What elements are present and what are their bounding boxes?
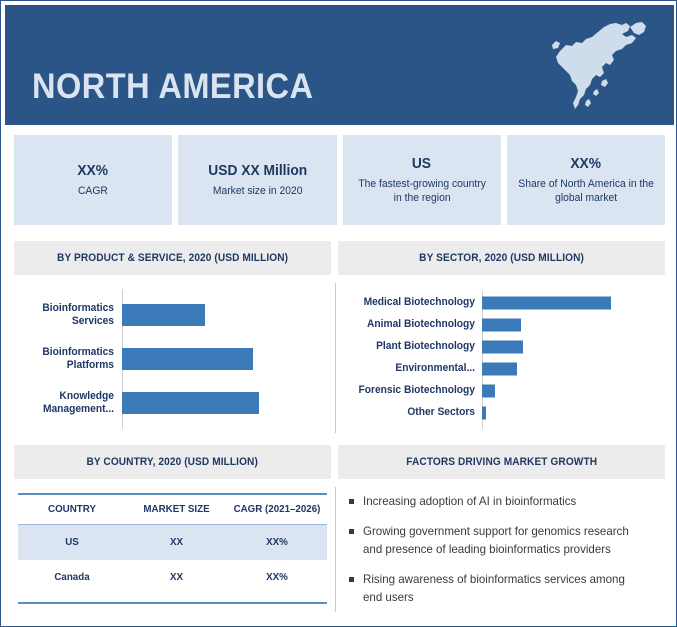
chart-bar-row: Environmental... [341, 359, 665, 379]
north-america-map-icon [542, 15, 652, 120]
section-title: BY SECTOR, 2020 (USD MILLION) [419, 252, 584, 264]
factor-text: Growing government support for genomics … [363, 523, 647, 558]
list-item: Increasing adoption of AI in bioinformat… [349, 493, 659, 510]
kpi-row: XX% CAGR USD XX Million Market size in 2… [14, 135, 665, 225]
chart-bar-row: Bioinformatics Platforms [14, 341, 331, 377]
chart-bar-track [122, 297, 331, 333]
chart-bar-row: Animal Biotechnology [341, 315, 665, 335]
cell-market-size: XX [130, 567, 224, 588]
chart-bar [482, 297, 611, 310]
table-header-row: COUNTRY MARKET SIZE CAGR (2021–2026) [18, 495, 327, 524]
section-title: BY PRODUCT & SERVICE, 2020 (USD MILLION) [57, 252, 288, 264]
country-table: COUNTRY MARKET SIZE CAGR (2021–2026) US … [18, 493, 327, 595]
cell-cagr: XX% [231, 532, 324, 553]
section-title: BY COUNTRY, 2020 (USD MILLION) [87, 456, 258, 468]
cell-country: US [22, 532, 122, 553]
chart-bar-label: Knowledge Management... [21, 390, 114, 416]
chart-bar-label: Plant Biotechnology [350, 340, 475, 353]
chart-bar-track [122, 341, 331, 377]
chart-bar-track [482, 315, 665, 335]
chart-bar [482, 363, 517, 376]
kpi-card-global-share: XX% Share of North America in the global… [507, 135, 665, 225]
chart-bar-row: Medical Biotechnology [341, 293, 665, 313]
chart-bar [122, 348, 253, 370]
column-header-market-size: MARKET SIZE [130, 495, 224, 524]
chart-bar-track [482, 293, 665, 313]
chart-bar-label: Environmental... [350, 362, 475, 375]
chart-bar-label: Bioinformatics Platforms [21, 346, 114, 372]
kpi-card-fastest-country: US The fastest-growing country in the re… [343, 135, 501, 225]
kpi-card-cagr: XX% CAGR [14, 135, 172, 225]
list-item: Rising awareness of bioinformatics servi… [349, 571, 659, 606]
section-header-country: BY COUNTRY, 2020 (USD MILLION) [14, 445, 331, 479]
header-banner: NORTH AMERICA [5, 5, 674, 125]
chart-bar [482, 319, 521, 332]
chart-bar [482, 407, 486, 420]
chart-bar-label: Medical Biotechnology [350, 296, 475, 309]
chart-bar-track [482, 359, 665, 379]
page-title: NORTH AMERICA [32, 67, 313, 107]
column-header-country: COUNTRY [22, 495, 122, 524]
kpi-card-market-size: USD XX Million Market size in 2020 [178, 135, 336, 225]
factor-text: Rising awareness of bioinformatics servi… [363, 571, 647, 606]
chart-bar-row: Plant Biotechnology [341, 337, 665, 357]
chart-bar-track [482, 381, 665, 401]
chart-bar [482, 385, 495, 398]
chart-bar-label: Animal Biotechnology [350, 318, 475, 331]
panel-divider-bottom [335, 487, 336, 612]
kpi-value: USD XX Million [208, 162, 307, 181]
chart-by-sector: Medical BiotechnologyAnimal Biotechnolog… [341, 291, 665, 429]
infographic-card: NORTH AMERICA XX% CAGR USD XX Million Ma… [0, 0, 677, 627]
bullet-square-icon [349, 499, 354, 504]
chart-bar-track [482, 403, 665, 423]
chart-bar-label: Other Sectors [350, 406, 475, 419]
factors-list: Increasing adoption of AI in bioinformat… [349, 493, 659, 619]
chart-by-product-and-service: Bioinformatics ServicesBioinformatics Pl… [14, 289, 331, 429]
kpi-value: XX% [571, 155, 602, 174]
kpi-value: XX% [78, 162, 109, 181]
kpi-value: US [412, 155, 431, 174]
kpi-label: Share of North America in the global mar… [517, 177, 654, 206]
chart-bar [122, 304, 205, 326]
table-bottom-rule [18, 602, 327, 604]
chart-bar [122, 392, 259, 414]
kpi-label: CAGR [78, 184, 108, 198]
kpi-label: Market size in 2020 [213, 184, 303, 198]
section-header-factors: FACTORS DRIVING MARKET GROWTH [338, 445, 665, 479]
chart-bar-track [122, 385, 331, 421]
factor-text: Increasing adoption of AI in bioinformat… [363, 493, 576, 510]
chart-bar-row: Bioinformatics Services [14, 297, 331, 333]
bullet-square-icon [349, 529, 354, 534]
chart-bar-track [482, 337, 665, 357]
chart-bar [482, 341, 523, 354]
list-item: Growing government support for genomics … [349, 523, 659, 558]
chart-bar-label: Bioinformatics Services [21, 302, 114, 328]
table-row: Canada XX XX% [18, 560, 327, 595]
chart-bar-row: Other Sectors [341, 403, 665, 423]
chart-bar-label: Forensic Biotechnology [350, 384, 475, 397]
bullet-square-icon [349, 577, 354, 582]
section-header-sector: BY SECTOR, 2020 (USD MILLION) [338, 241, 665, 275]
section-header-product-service: BY PRODUCT & SERVICE, 2020 (USD MILLION) [14, 241, 331, 275]
section-title: FACTORS DRIVING MARKET GROWTH [406, 456, 597, 468]
column-header-cagr: CAGR (2021–2026) [231, 495, 324, 524]
chart-bar-row: Forensic Biotechnology [341, 381, 665, 401]
kpi-label: The fastest-growing country in the regio… [353, 177, 490, 206]
panel-divider-top [335, 283, 336, 433]
table-row: US XX XX% [18, 525, 327, 560]
cell-country: Canada [22, 567, 122, 588]
cell-cagr: XX% [231, 567, 324, 588]
chart-bar-row: Knowledge Management... [14, 385, 331, 421]
cell-market-size: XX [130, 532, 224, 553]
